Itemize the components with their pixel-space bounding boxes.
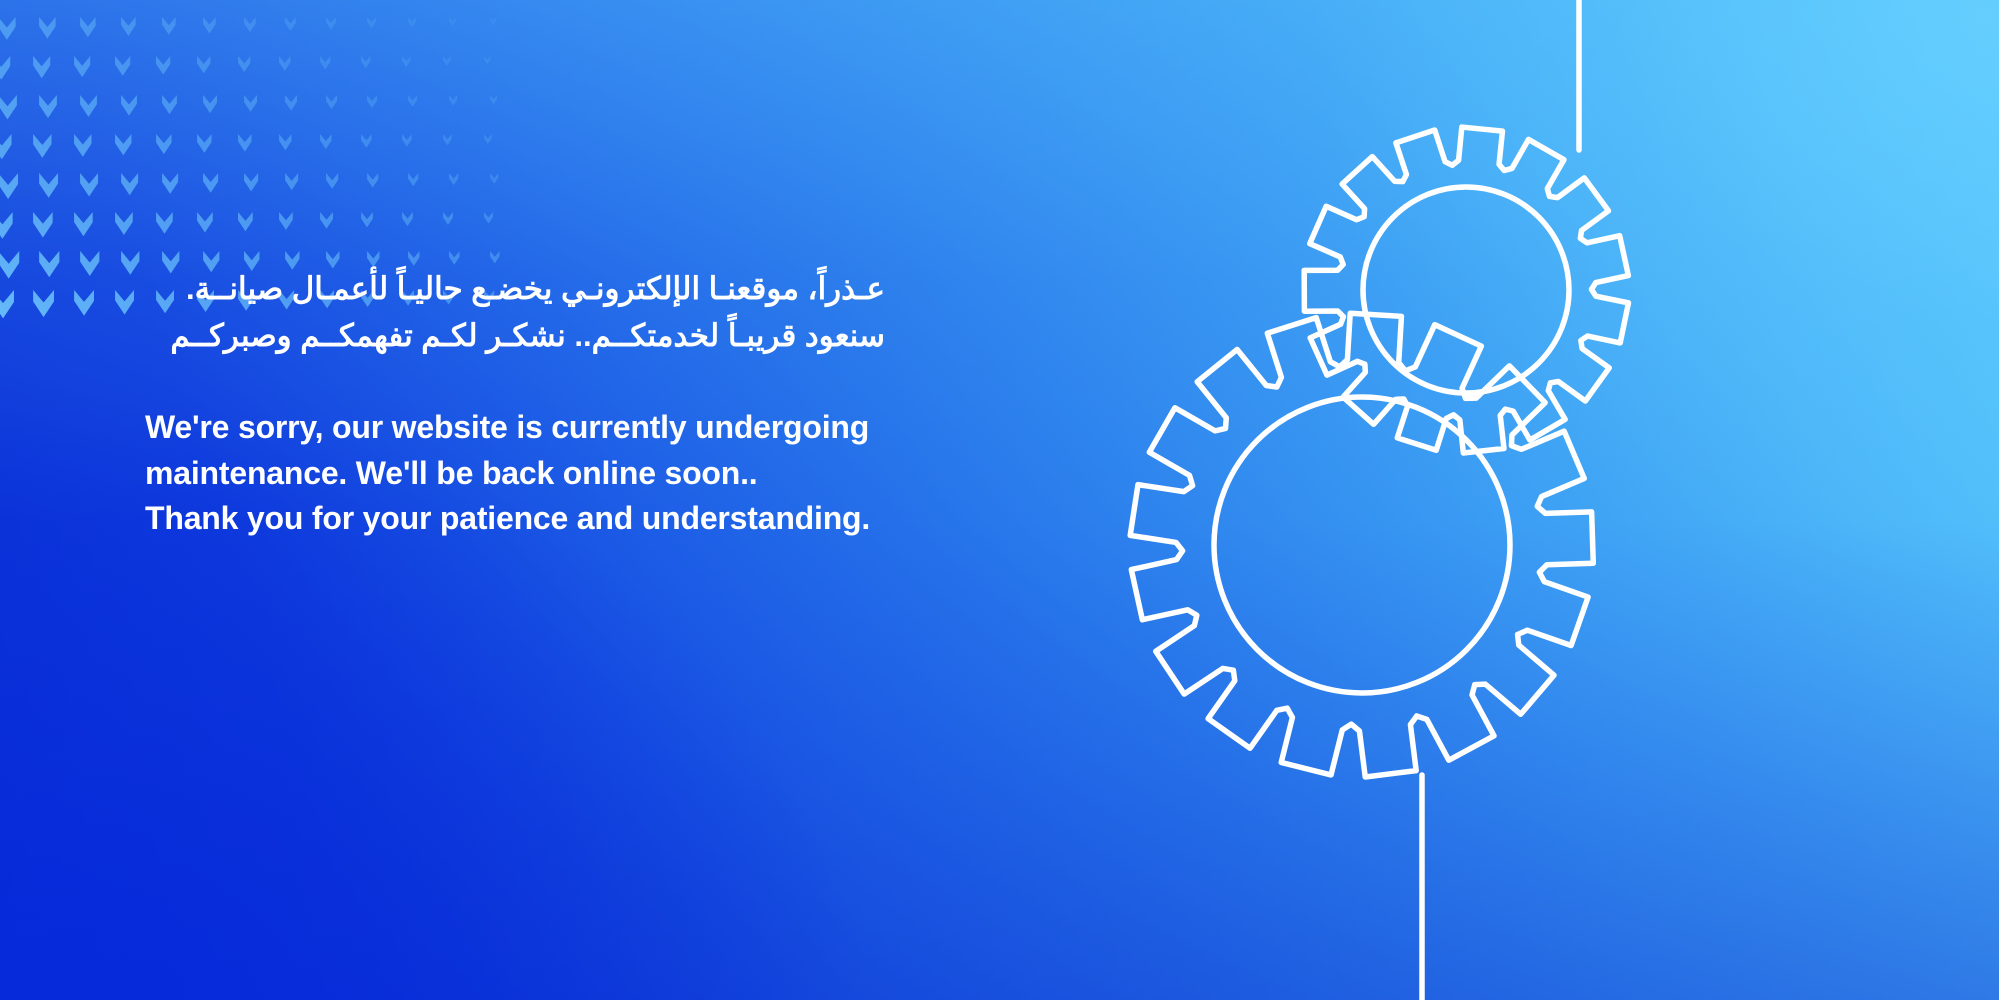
gear-illustration: [1099, 0, 1999, 1000]
english-line-3: Thank you for your patience and understa…: [145, 496, 965, 541]
arabic-line-2: سنعود قريبـاً لخدمتكــم.. نشكـر لكـم تفه…: [145, 312, 885, 359]
english-line-1: We're sorry, our website is currently un…: [145, 405, 965, 450]
maintenance-page: عـذراً، موقعنـا الإلكترونـي يخضـع حاليـا…: [0, 0, 1999, 1000]
english-line-2: maintenance. We'll be back online soon..: [145, 451, 965, 496]
gear-large: [1130, 313, 1593, 777]
gear-small: [1304, 127, 1628, 453]
message-block: عـذراً، موقعنـا الإلكترونـي يخضـع حاليـا…: [145, 265, 965, 542]
arabic-line-1: عـذراً، موقعنـا الإلكترونـي يخضـع حاليـا…: [145, 265, 885, 312]
arabic-message: عـذراً، موقعنـا الإلكترونـي يخضـع حاليـا…: [145, 265, 885, 359]
english-message: We're sorry, our website is currently un…: [145, 405, 965, 541]
